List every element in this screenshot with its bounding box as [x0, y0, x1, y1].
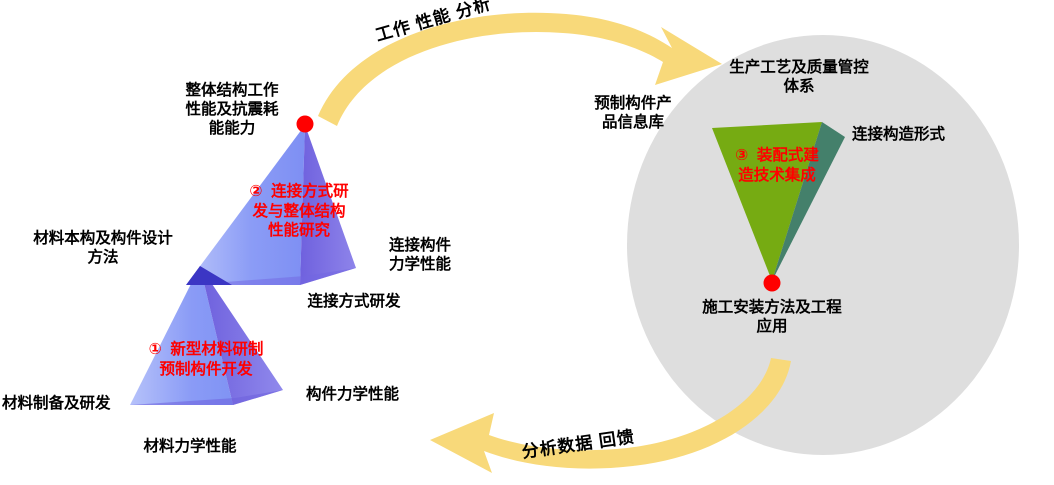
inverted-pyramid-top-label: 生产工艺及质量管控 体系: [693, 59, 905, 97]
lower-pyramid-left-label: 材料制备及研发: [2, 395, 152, 414]
inverted-pyramid-left-label: 预制构件产 品信息库: [575, 95, 691, 133]
inverted-pyramid-right-label: 连接构造形式: [852, 126, 992, 145]
inverted-pyramid-apex-dot: [764, 275, 781, 292]
lower-pyramid-center-label: ① 新型材料研制 预制构件开发: [112, 340, 300, 379]
lower-pyramid-right-label: 构件力学性能: [306, 386, 436, 405]
upper-pyramid-left-label: 材料本构及构件设计 方法: [10, 230, 196, 268]
inverted-pyramid-apex-label: 施工安装方法及工程 应用: [668, 299, 876, 337]
upper-pyramid-apex-label: 整体结构工作 性能及抗震耗 能能力: [156, 82, 308, 139]
lower-pyramid: [130, 266, 283, 405]
upper-pyramid-right-label: 连接构件 力学性能: [374, 237, 466, 275]
inverted-pyramid-center-label: ③ 装配式建 造技术集成: [715, 146, 839, 185]
upper-pyramid-base-label: 连接方式研发: [286, 293, 422, 312]
diagram-canvas: 工作 性能 分析 分析数据 回馈 整体结构工作 性能及抗震耗 能能力 ② 连接方…: [0, 0, 1054, 485]
lower-pyramid-base-label: 材料力学性能: [122, 438, 258, 457]
upper-pyramid-center-label: ② 连接方式研 发与整体结构 性能研究: [229, 182, 369, 241]
